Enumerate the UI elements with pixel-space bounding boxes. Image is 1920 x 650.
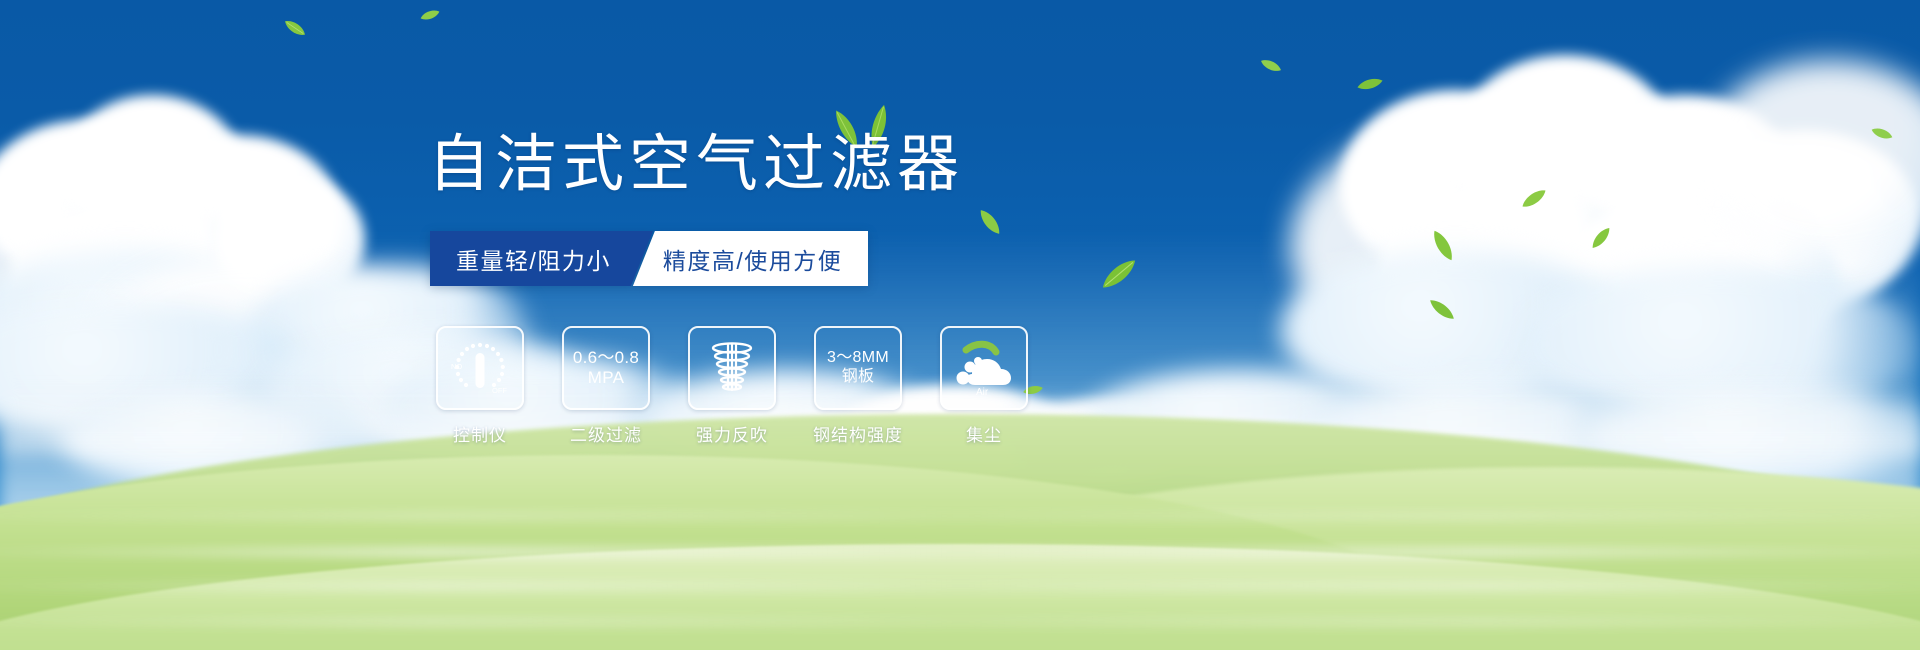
feature-icon-box (688, 326, 776, 410)
banner-content: 自洁式空气过滤器 重量轻/阻力小 精度高/使用方便 (0, 0, 1920, 650)
pressure-value-icon: 0.6～0.8 (573, 348, 639, 368)
feature-icon-box: Air (940, 326, 1028, 410)
subtitle-tab-secondary[interactable]: 精度高/使用方便 (633, 231, 868, 286)
feature-label: 控制仪 (453, 421, 507, 446)
gauge-off-label: OFF (492, 386, 507, 395)
feature-icon-row: NO OFF 控制仪 0.6～0.8 MPA 二级过滤 (438, 326, 1026, 446)
feature-icon-box: 0.6～0.8 MPA (562, 326, 650, 410)
air-cloud-icon: Air (952, 340, 1016, 396)
feature-item-controller[interactable]: NO OFF 控制仪 (438, 326, 522, 446)
subtitle-tab-primary[interactable]: 重量轻/阻力小 (430, 231, 653, 286)
gauge-on-label: NO (451, 362, 462, 371)
feature-icon-box: NO OFF (436, 326, 524, 410)
feature-label: 强力反吹 (696, 421, 768, 446)
steel-plate-material-label: 钢板 (842, 368, 875, 387)
feature-item-backblow[interactable]: 强力反吹 (690, 326, 774, 446)
product-hero-banner: 自洁式空气过滤器 重量轻/阻力小 精度高/使用方便 (0, 0, 1920, 650)
feature-label: 集尘 (966, 421, 1002, 446)
feature-item-dust-collection[interactable]: Air 集尘 (942, 326, 1026, 446)
blowback-coil-icon (704, 339, 760, 397)
feature-label: 钢结构强度 (813, 421, 903, 446)
pressure-unit-label: MPA (588, 368, 624, 388)
air-label: Air (976, 387, 989, 396)
steel-plate-icon: 3～8MM (827, 349, 889, 368)
feature-item-steel-strength[interactable]: 3～8MM 钢板 钢结构强度 (816, 326, 900, 446)
feature-icon-box: 3～8MM 钢板 (814, 326, 902, 410)
control-gauge-icon: NO OFF (449, 339, 511, 397)
feature-item-two-stage-filter[interactable]: 0.6～0.8 MPA 二级过滤 (564, 326, 648, 446)
subtitle-tab-group: 重量轻/阻力小 精度高/使用方便 (430, 231, 868, 286)
feature-label: 二级过滤 (570, 421, 642, 446)
page-title: 自洁式空气过滤器 (428, 133, 964, 195)
